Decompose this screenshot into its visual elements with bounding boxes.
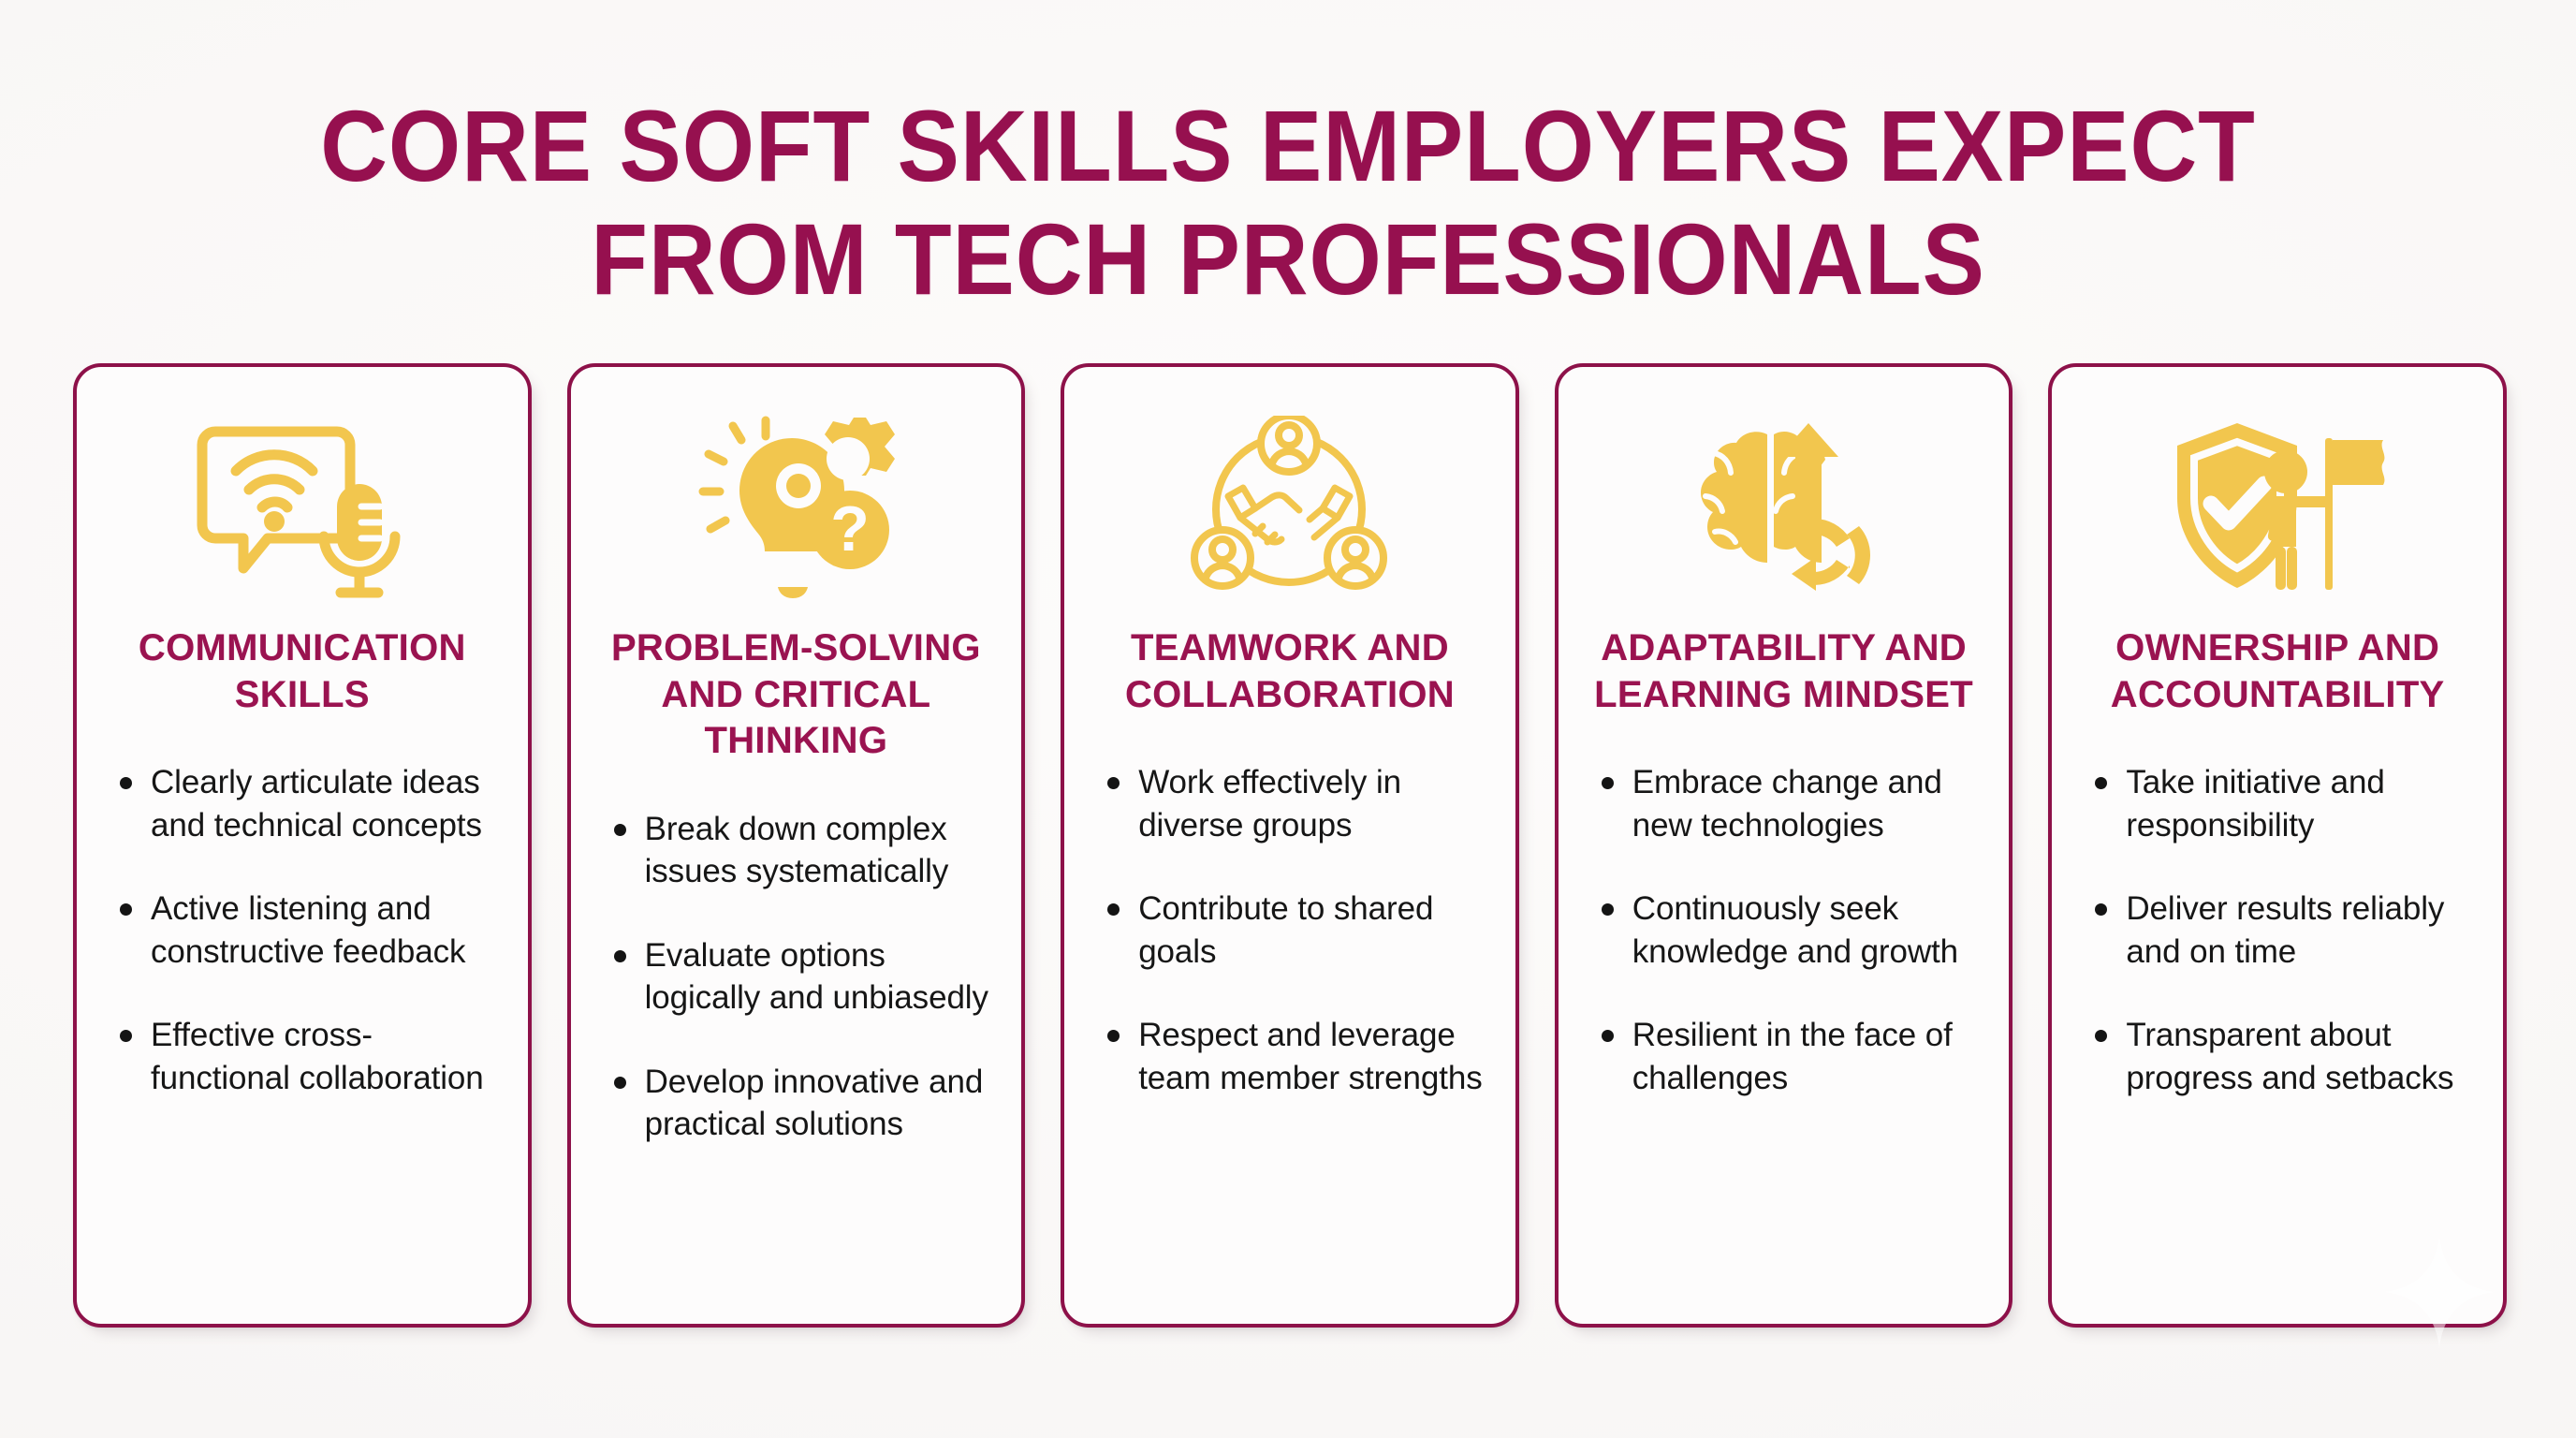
list-item: Take initiative and responsibility bbox=[2089, 761, 2471, 846]
skill-cards-row: COMMUNICATION SKILLS Clearly articulate … bbox=[73, 363, 2507, 1328]
skill-card-teamwork-and-collaboration: TEAMWORK AND COLLABORATION Work effectiv… bbox=[1061, 363, 1519, 1328]
list-item: Clearly articulate ideas and technical c… bbox=[114, 761, 496, 846]
speech-bubble-wifi-microphone-icon bbox=[109, 408, 496, 605]
shield-check-person-flag-icon bbox=[2084, 408, 2471, 605]
list-item: Break down complex issues systematically bbox=[608, 808, 990, 893]
bullet-dot-icon bbox=[1602, 777, 1614, 789]
list-item: Active listening and constructive feedba… bbox=[114, 888, 496, 973]
skill-card-title: PROBLEM-SOLVING AND CRITICAL THINKING bbox=[603, 625, 990, 765]
list-item-label: Resilient in the face of challenges bbox=[1632, 1014, 1978, 1099]
bullet-dot-icon bbox=[1602, 903, 1614, 916]
bullet-dot-icon bbox=[120, 903, 132, 916]
list-item-label: Break down complex issues systematically bbox=[645, 808, 990, 893]
list-item: Develop innovative and practical solutio… bbox=[608, 1061, 990, 1146]
list-item-label: Contribute to shared goals bbox=[1138, 888, 1484, 973]
list-item: Deliver results reliably and on time bbox=[2089, 888, 2471, 973]
skill-card-bullet-list: Work effectively in diverse groups Contr… bbox=[1096, 761, 1484, 1296]
team-handshake-icon bbox=[1096, 408, 1484, 605]
list-item-label: Clearly articulate ideas and technical c… bbox=[151, 761, 496, 846]
list-item-label: Active listening and constructive feedba… bbox=[151, 888, 496, 973]
page-title-line-2: FROM TECH PROFESSIONALS bbox=[103, 203, 2473, 316]
skill-card-bullet-list: Break down complex issues systematically… bbox=[603, 808, 990, 1296]
bullet-dot-icon bbox=[2095, 903, 2107, 916]
list-item: Continuously seek knowledge and growth bbox=[1596, 888, 1978, 973]
svg-text:?: ? bbox=[830, 493, 870, 565]
bullet-dot-icon bbox=[120, 777, 132, 789]
skill-card-title: TEAMWORK AND COLLABORATION bbox=[1096, 625, 1484, 718]
list-item: Effective cross-functional collaboration bbox=[114, 1014, 496, 1099]
skill-card-ownership-and-accountability: OWNERSHIP AND ACCOUNTABILITY Take initia… bbox=[2048, 363, 2507, 1328]
page-title-line-1: CORE SOFT SKILLS EMPLOYERS EXPECT bbox=[103, 90, 2473, 203]
bullet-dot-icon bbox=[614, 1077, 626, 1089]
list-item: Contribute to shared goals bbox=[1102, 888, 1484, 973]
bullet-dot-icon bbox=[1107, 777, 1120, 789]
bullet-dot-icon bbox=[1107, 1030, 1120, 1042]
bullet-dot-icon bbox=[1107, 903, 1120, 916]
list-item-label: Take initiative and responsibility bbox=[2126, 761, 2471, 846]
list-item-label: Develop innovative and practical solutio… bbox=[645, 1061, 990, 1146]
list-item: Embrace change and new technologies bbox=[1596, 761, 1978, 846]
brain-growth-arrow-refresh-icon bbox=[1590, 408, 1978, 605]
lightbulb-gears-question-icon: ? bbox=[603, 408, 990, 605]
skill-card-bullet-list: Embrace change and new technologies Cont… bbox=[1590, 761, 1978, 1296]
bullet-dot-icon bbox=[2095, 1030, 2107, 1042]
list-item-label: Deliver results reliably and on time bbox=[2126, 888, 2471, 973]
bullet-dot-icon bbox=[2095, 777, 2107, 789]
list-item-label: Respect and leverage team member strengt… bbox=[1138, 1014, 1484, 1099]
list-item: Resilient in the face of challenges bbox=[1596, 1014, 1978, 1099]
skill-card-communication-skills: COMMUNICATION SKILLS Clearly articulate … bbox=[73, 363, 532, 1328]
skill-card-adaptability-and-learning-mindset: ADAPTABILITY AND LEARNING MINDSET Embrac… bbox=[1555, 363, 2013, 1328]
bullet-dot-icon bbox=[120, 1030, 132, 1042]
list-item-label: Embrace change and new technologies bbox=[1632, 761, 1978, 846]
skill-card-bullet-list: Clearly articulate ideas and technical c… bbox=[109, 761, 496, 1296]
skill-card-title: OWNERSHIP AND ACCOUNTABILITY bbox=[2084, 625, 2471, 718]
list-item-label: Transparent about progress and setbacks bbox=[2126, 1014, 2471, 1099]
list-item: Work effectively in diverse groups bbox=[1102, 761, 1484, 846]
list-item: Transparent about progress and setbacks bbox=[2089, 1014, 2471, 1099]
skill-card-title: COMMUNICATION SKILLS bbox=[109, 625, 496, 718]
list-item-label: Work effectively in diverse groups bbox=[1138, 761, 1484, 846]
skill-card-title: ADAPTABILITY AND LEARNING MINDSET bbox=[1590, 625, 1978, 718]
skill-card-bullet-list: Take initiative and responsibility Deliv… bbox=[2084, 761, 2471, 1296]
bullet-dot-icon bbox=[1602, 1030, 1614, 1042]
skill-card-problem-solving-and-critical-thinking: ? PROBLEM-SOLVING AND CRITICAL THINKING … bbox=[567, 363, 1026, 1328]
bullet-dot-icon bbox=[614, 824, 626, 836]
list-item: Respect and leverage team member strengt… bbox=[1102, 1014, 1484, 1099]
list-item-label: Continuously seek knowledge and growth bbox=[1632, 888, 1978, 973]
bullet-dot-icon bbox=[614, 950, 626, 962]
list-item-label: Effective cross-functional collaboration bbox=[151, 1014, 496, 1099]
list-item: Evaluate options logically and unbiasedl… bbox=[608, 934, 990, 1020]
page-title: CORE SOFT SKILLS EMPLOYERS EXPECT FROM T… bbox=[0, 90, 2576, 316]
list-item-label: Evaluate options logically and unbiasedl… bbox=[645, 934, 990, 1020]
